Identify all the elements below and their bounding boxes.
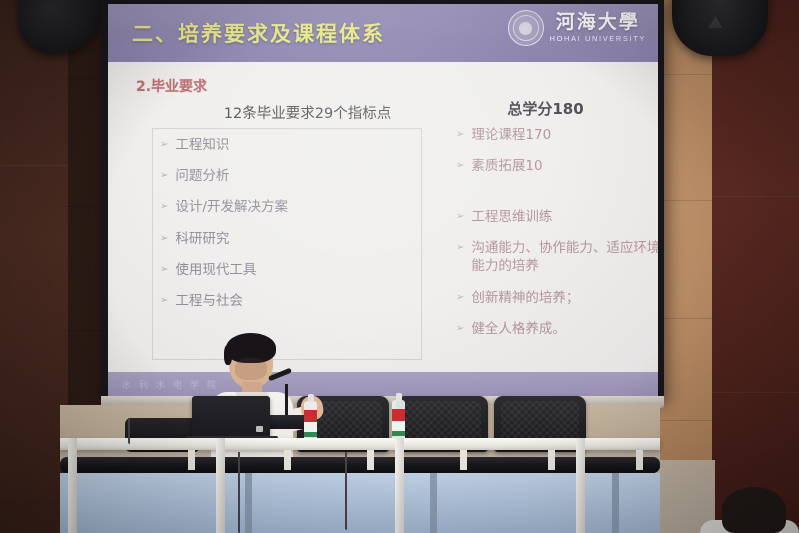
list-item-label: 科研研究 bbox=[175, 230, 425, 248]
table-bracket bbox=[460, 450, 467, 470]
panel-seam bbox=[430, 473, 437, 533]
list-item: ➢ 健全人格养成。 bbox=[456, 320, 658, 338]
right-column-list-training: ➢ 工程思维训练 ➢ 沟通能力、协作能力、适应环境能力的培养 ➢ 创新精神的培养… bbox=[456, 208, 658, 351]
left-column-title: 12条毕业要求29个指标点 bbox=[180, 102, 435, 123]
bullet-arrow-icon: ➢ bbox=[160, 292, 168, 309]
table-leg bbox=[395, 438, 404, 533]
presenter-face bbox=[235, 358, 267, 380]
bullet-arrow-icon: ➢ bbox=[160, 261, 168, 278]
list-item: ➢ 工程与社会 bbox=[160, 292, 425, 310]
list-item-label: 使用现代工具 bbox=[175, 261, 425, 279]
list-item: ➢ 理论课程170 bbox=[456, 126, 658, 144]
podium-table-top bbox=[60, 438, 660, 450]
water-bottle bbox=[304, 401, 317, 441]
list-item: ➢ 沟通能力、协作能力、适应环境能力的培养 bbox=[456, 239, 658, 275]
left-wood-wall-panel bbox=[0, 0, 68, 533]
list-item: ➢ 问题分析 bbox=[160, 167, 425, 185]
table-bracket bbox=[367, 450, 374, 470]
water-bottle bbox=[392, 400, 405, 440]
list-item-label: 设计/开发解决方案 bbox=[175, 198, 425, 216]
lecture-hall-photo: 二、培养要求及课程体系 河海大學 HOHAI UNIVERSITY 2.毕业要求… bbox=[0, 0, 799, 533]
university-name-en: HOHAI UNIVERSITY bbox=[550, 34, 646, 43]
right-column-title: 总学分180 bbox=[438, 98, 653, 119]
slide-header-bar: 二、培养要求及课程体系 河海大學 HOHAI UNIVERSITY bbox=[108, 4, 658, 62]
bullet-arrow-icon: ➢ bbox=[456, 208, 464, 225]
table-leg bbox=[216, 438, 225, 533]
right-tan-wall-strip bbox=[655, 0, 717, 533]
audience-member-head bbox=[722, 487, 786, 533]
bullet-arrow-icon: ➢ bbox=[160, 230, 168, 247]
table-leg bbox=[68, 438, 77, 533]
power-cable bbox=[128, 418, 130, 444]
table-bracket bbox=[636, 450, 643, 470]
list-item: ➢ 使用现代工具 bbox=[160, 261, 425, 279]
bullet-arrow-icon: ➢ bbox=[456, 239, 464, 256]
slide-footer-bar: 水利水电学院 bbox=[108, 372, 658, 396]
university-logo: 河海大學 HOHAI UNIVERSITY bbox=[508, 10, 646, 46]
list-item: ➢ 科研研究 bbox=[160, 230, 425, 248]
list-item-label: 问题分析 bbox=[175, 167, 425, 185]
list-item: ➢ 工程思维训练 bbox=[456, 208, 658, 226]
power-cable bbox=[345, 452, 347, 530]
bullet-arrow-icon: ➢ bbox=[456, 126, 464, 143]
list-item: ➢ 创新精神的培养； bbox=[456, 289, 658, 307]
panel-seam bbox=[612, 473, 619, 533]
list-item-label: 健全人格养成。 bbox=[471, 320, 658, 338]
table-bracket bbox=[188, 450, 195, 470]
slide-title: 二、培养要求及课程体系 bbox=[132, 18, 385, 48]
bullet-arrow-icon: ➢ bbox=[456, 289, 464, 306]
list-item: ➢ 设计/开发解决方案 bbox=[160, 198, 425, 216]
list-item-label: 理论课程170 bbox=[471, 126, 658, 144]
power-cable bbox=[238, 452, 240, 533]
panel-seam bbox=[245, 473, 252, 533]
section-heading: 2.毕业要求 bbox=[136, 76, 207, 96]
bullet-arrow-icon: ➢ bbox=[160, 136, 168, 153]
right-wood-wall-panel bbox=[712, 0, 799, 533]
bullet-arrow-icon: ➢ bbox=[160, 198, 168, 215]
list-item: ➢ 素质拓展10 bbox=[456, 157, 658, 175]
list-item-label: 素质拓展10 bbox=[471, 157, 658, 175]
laptop-screen[interactable] bbox=[192, 396, 270, 438]
table-leg bbox=[576, 438, 585, 533]
list-item-label: 沟通能力、协作能力、适应环境能力的培养 bbox=[471, 239, 658, 275]
university-name-cn: 河海大學 bbox=[556, 13, 640, 33]
list-item-label: 工程知识 bbox=[175, 136, 425, 154]
podium-table-rail bbox=[60, 457, 660, 473]
podium-front-panel bbox=[60, 473, 660, 533]
presentation-slide: 二、培养要求及课程体系 河海大學 HOHAI UNIVERSITY 2.毕业要求… bbox=[108, 4, 658, 396]
table-bracket bbox=[548, 450, 555, 470]
left-column-list: ➢ 工程知识 ➢ 问题分析 ➢ 设计/开发解决方案 ➢ 科研研究 bbox=[160, 136, 425, 323]
list-item: ➢ 工程知识 bbox=[160, 136, 425, 154]
list-item-label: 工程思维训练 bbox=[471, 208, 658, 226]
list-item-label: 创新精神的培养； bbox=[471, 289, 658, 307]
slide-body: 2.毕业要求 12条毕业要求29个指标点 总学分180 ➢ 工程知识 ➢ 问题分… bbox=[108, 62, 658, 374]
right-column-list-credits: ➢ 理论课程170 ➢ 素质拓展10 bbox=[456, 126, 658, 188]
university-seal-icon bbox=[508, 10, 544, 46]
bullet-arrow-icon: ➢ bbox=[456, 320, 464, 337]
bullet-arrow-icon: ➢ bbox=[160, 167, 168, 184]
list-item-label: 工程与社会 bbox=[175, 292, 425, 310]
bullet-arrow-icon: ➢ bbox=[456, 157, 464, 174]
table-bracket bbox=[284, 450, 291, 470]
